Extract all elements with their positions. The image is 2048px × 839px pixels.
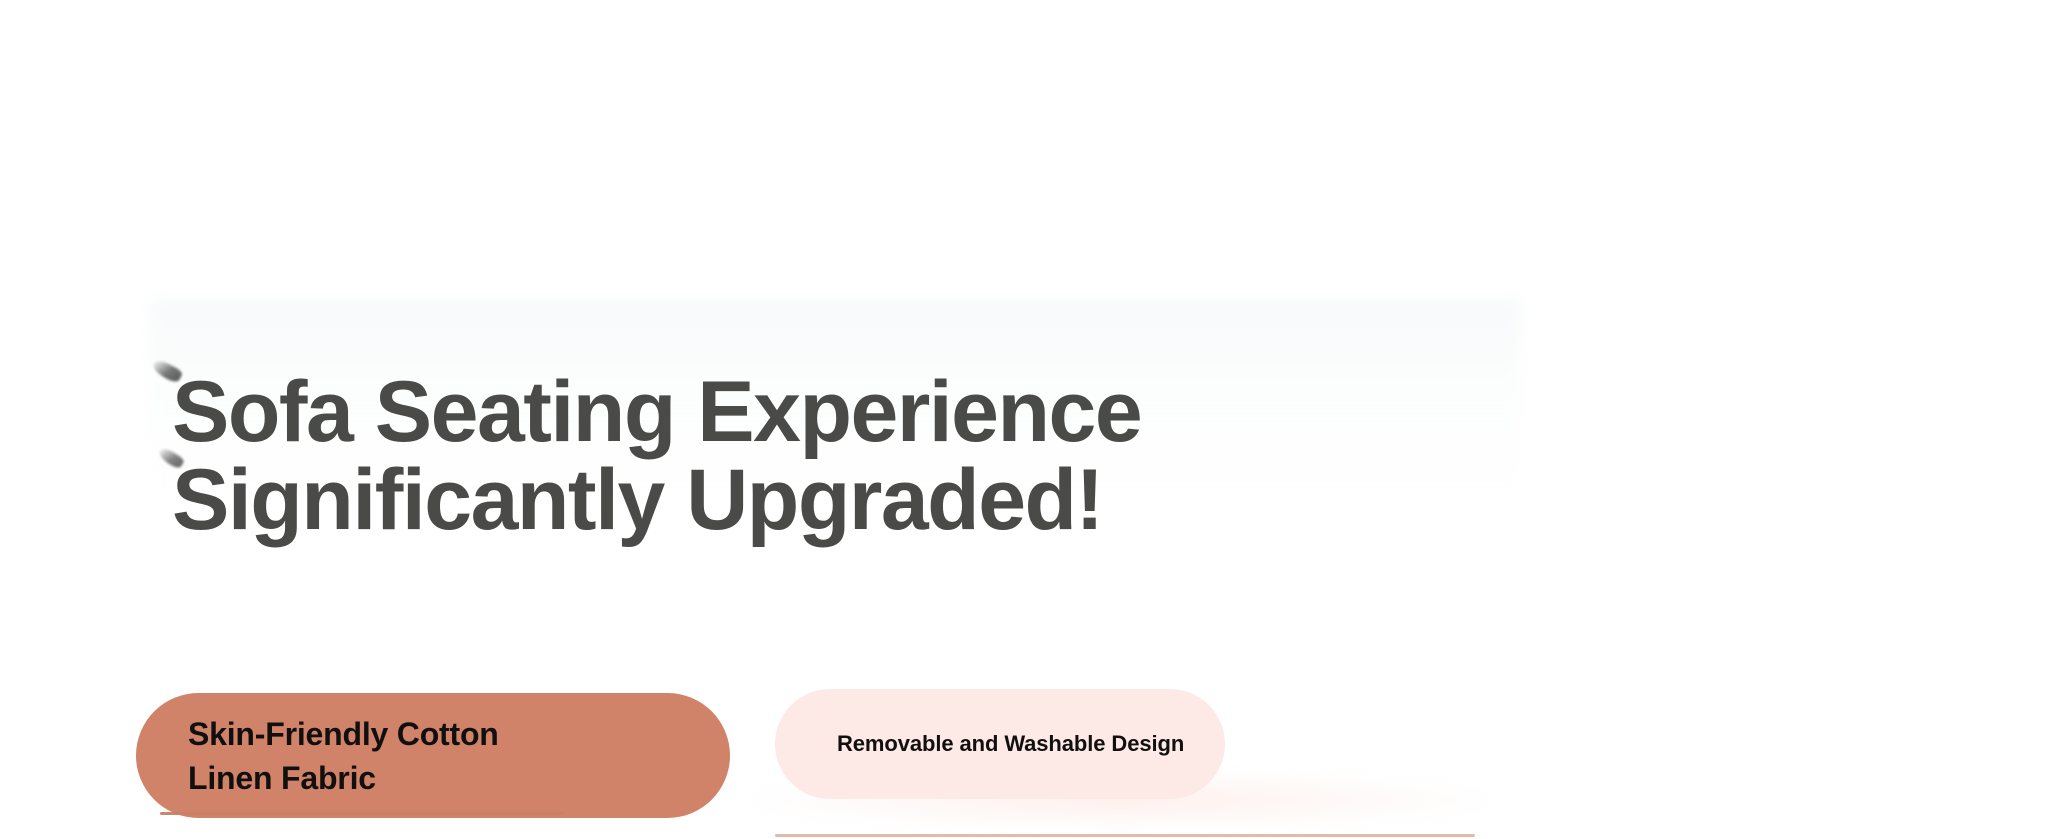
feature-pill-cotton-linen[interactable]: Skin-Friendly Cotton Linen Fabric xyxy=(136,693,730,818)
feature-pill-label: Skin-Friendly Cotton Linen Fabric xyxy=(188,712,499,800)
section-divider-right xyxy=(775,834,1475,837)
section-divider-left xyxy=(160,812,564,815)
feature-pill-row: Skin-Friendly Cotton Linen Fabric Remova… xyxy=(136,693,1936,839)
page-title: Sofa Seating Experience Significantly Up… xyxy=(172,368,1472,544)
hero-section: Sofa Seating Experience Significantly Up… xyxy=(0,0,2048,839)
feature-pill-removable-washable[interactable]: Removable and Washable Design xyxy=(775,689,1225,799)
feature-pill-label: Removable and Washable Design xyxy=(837,730,1184,758)
